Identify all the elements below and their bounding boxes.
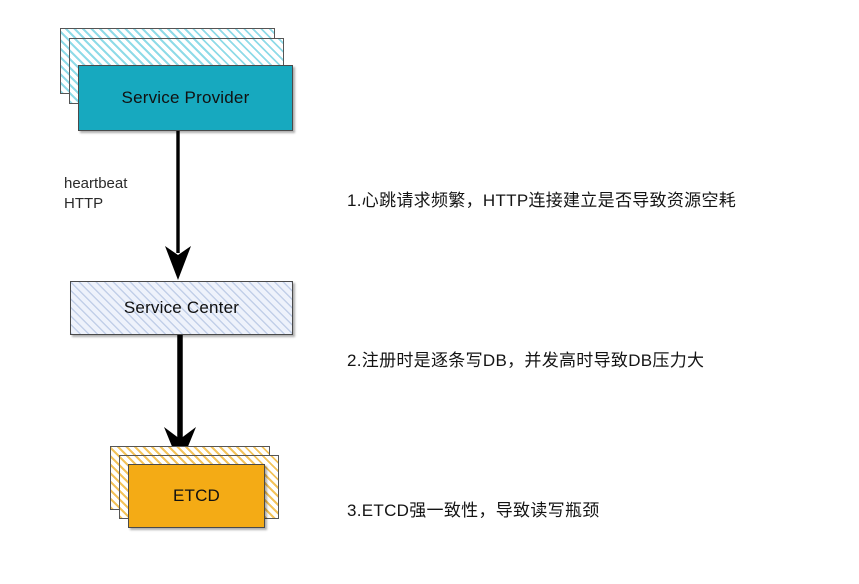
note-item-2: 2.注册时是逐条写DB，并发高时导致DB压力大: [347, 350, 704, 372]
edge-label-heartbeat-http: heartbeatHTTP: [64, 174, 127, 214]
note-item-3: 3.ETCD强一致性，导致读写瓶颈: [347, 500, 600, 522]
etcd-node[interactable]: ETCD: [128, 464, 265, 528]
service-provider-node[interactable]: Service Provider: [78, 65, 293, 131]
note-item-1: 1.心跳请求频繁，HTTP连接建立是否导致资源空耗: [347, 190, 736, 212]
arrow-provider-to-center: [160, 131, 196, 281]
service-center-node[interactable]: Service Center: [70, 281, 293, 335]
diagram-canvas: Service Provider heartbeatHTTP Service C…: [0, 0, 859, 584]
edge-label-line1: heartbeat: [64, 175, 127, 192]
edge-label-line2: HTTP: [64, 195, 103, 212]
service-center-label: Service Center: [124, 298, 239, 318]
service-provider-label: Service Provider: [122, 88, 250, 108]
etcd-label: ETCD: [173, 486, 220, 506]
arrow-provider-to-center-svg: [160, 131, 196, 281]
